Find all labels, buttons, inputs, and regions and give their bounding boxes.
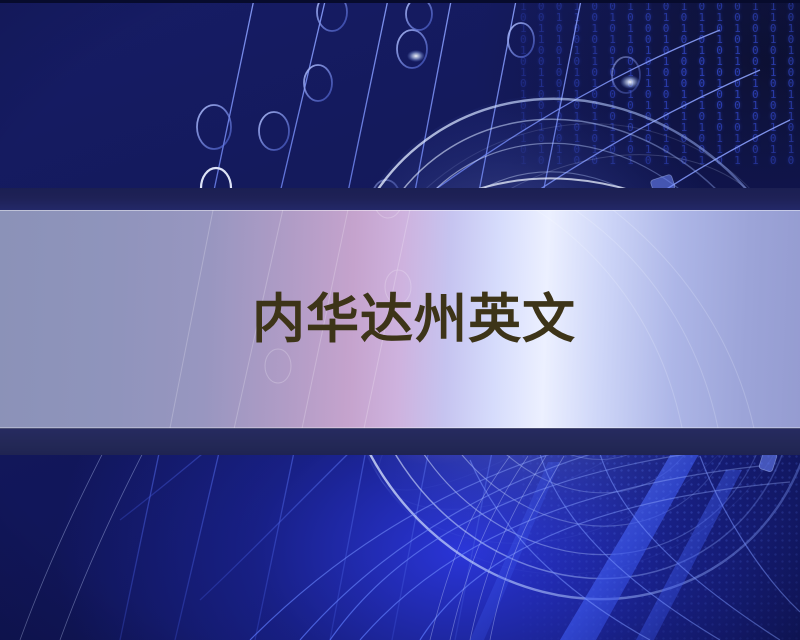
lower-arc-group [250,430,800,640]
binary-row: 0 0 1 0 0 1 0 1 1 0 1 0 0 1 0 1 1 0 0 1 … [520,100,800,111]
binary-row: 1 1 0 1 0 0 1 1 0 0 1 0 0 1 1 0 0 1 1 0 … [520,67,800,78]
binary-row: 1 0 1 0 0 1 1 0 1 0 1 0 1 1 0 0 1 0 1 0 … [520,155,800,166]
binary-row: 1 0 1 1 0 0 1 0 0 1 1 0 1 0 1 1 0 0 1 0 … [520,89,800,100]
binary-row: 1 0 0 1 1 0 0 1 0 1 1 0 1 0 0 1 0 0 1 1 … [520,45,800,56]
dark-navy-rule-top [0,188,800,211]
top-edge-line [0,0,800,2]
binary-row: 0 1 1 0 1 0 0 1 0 1 0 1 0 0 1 1 0 1 0 1 … [520,144,800,155]
title-container: 内华达州英文 [0,210,800,428]
binary-row: 1 0 0 1 0 0 1 1 0 1 0 0 0 1 1 0 1 0 0 1 … [520,1,800,12]
banner-title: 内华达州英文 [0,293,576,346]
binary-row: 0 1 0 0 1 1 0 1 0 1 1 0 0 1 1 0 1 0 0 1 … [520,122,800,133]
binary-row: 1 0 0 1 0 1 1 0 1 0 0 1 1 0 0 1 1 0 1 0 … [520,133,800,144]
binary-row: 0 1 1 0 0 1 1 0 1 0 0 1 0 1 1 0 0 1 0 0 … [520,34,800,45]
binary-row: 0 1 0 0 1 1 0 1 0 0 1 0 1 1 0 0 1 0 1 0 … [520,0,800,1]
binary-row: 0 0 1 1 0 1 0 0 1 0 1 1 0 0 1 0 0 1 1 0 … [520,12,800,23]
bottom-edge-line [0,0,800,3]
binary-row: 1 1 0 1 1 0 1 0 0 1 0 1 1 0 0 1 0 1 1 0 … [520,111,800,122]
binary-row: 0 1 0 0 1 1 0 1 1 0 0 1 0 1 0 0 1 0 0 1 … [520,78,800,89]
binary-row: 1 1 0 0 1 0 1 0 0 1 1 0 1 0 0 1 1 0 0 1 … [520,23,800,34]
spark-highlight-group [376,50,640,210]
ribbon-streak-group [470,452,742,640]
binary-row: 0 0 1 0 1 1 0 0 1 0 0 1 1 0 1 0 1 1 0 0 … [520,56,800,67]
dark-navy-rule-bottom [0,428,800,455]
tech-banner: 0 1 0 0 1 1 0 1 0 0 1 0 1 1 0 0 1 0 1 0 … [0,0,800,640]
